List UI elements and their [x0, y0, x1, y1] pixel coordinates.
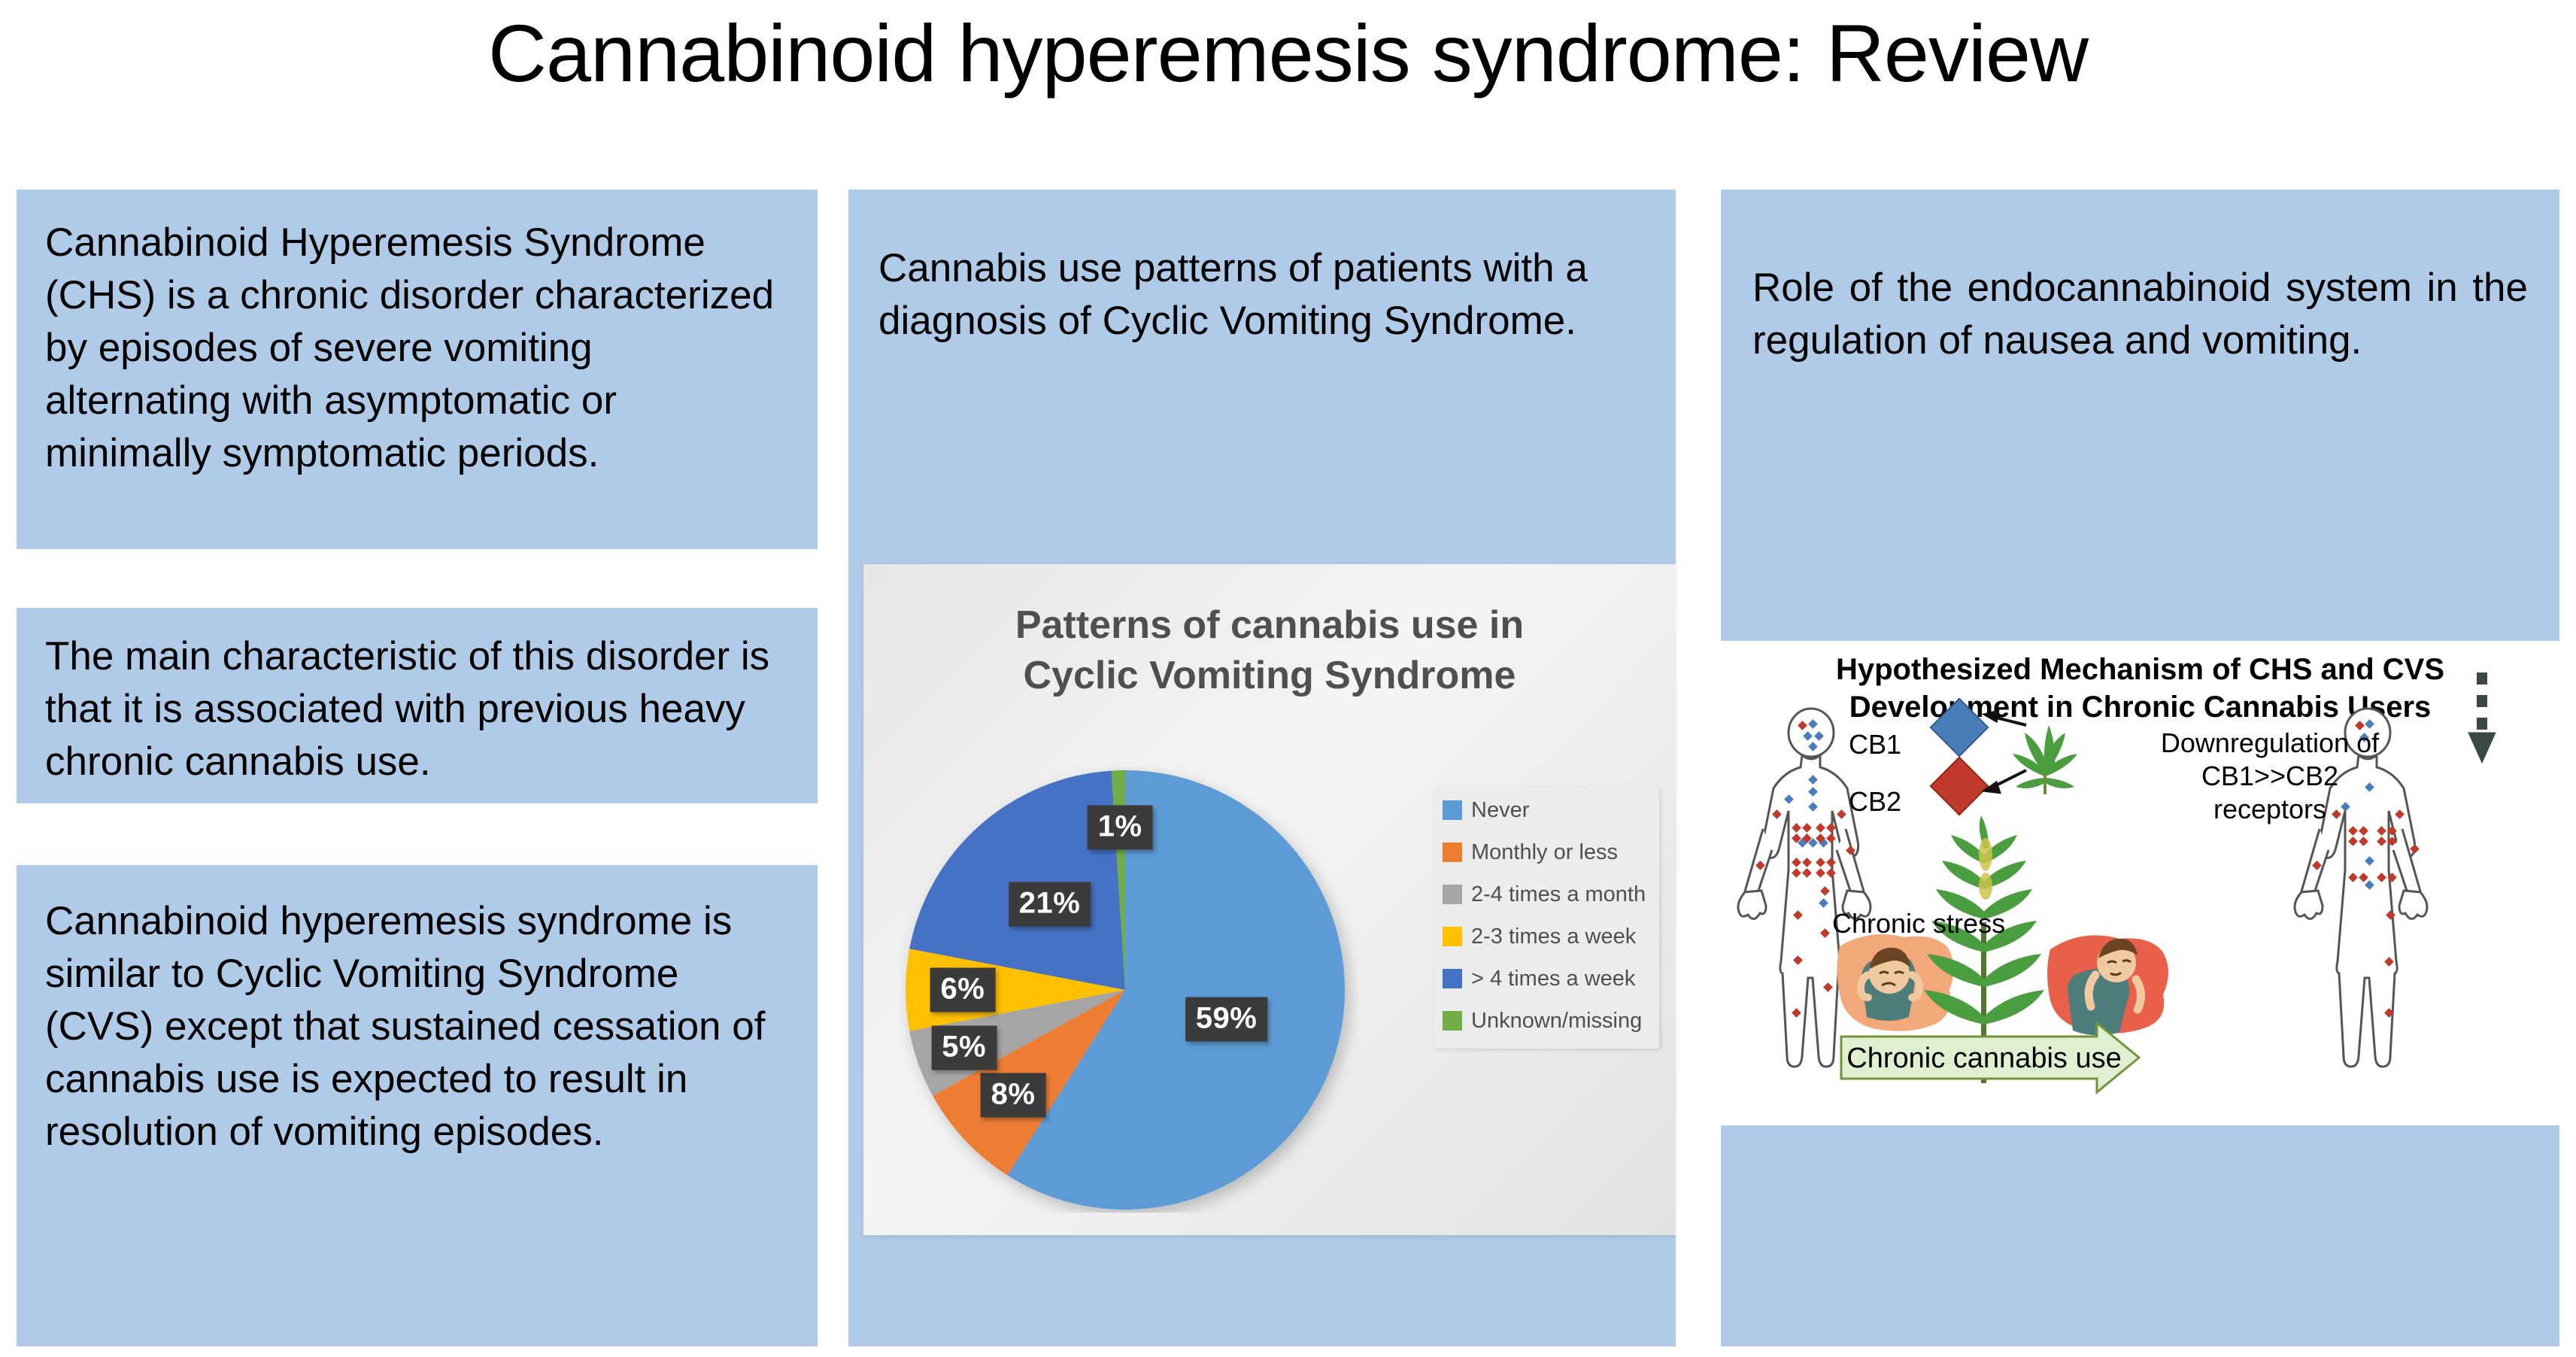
chart-title-line-1: Patterns of cannabis use in	[863, 600, 1676, 651]
vomiting-person-icon	[2047, 935, 2168, 1035]
pie-slice-label: 8%	[981, 1073, 1046, 1117]
legend-item-label: Monthly or less	[1471, 840, 1618, 865]
legend-item-label: Never	[1471, 798, 1529, 823]
legend-item[interactable]: > 4 times a week	[1443, 966, 1650, 991]
pie-slice-label: 59%	[1185, 997, 1268, 1042]
downregulation-arrow-icon	[2468, 672, 2496, 763]
panel-chs-definition: Cannabinoid Hyperemesis Syndrome (CHS) i…	[17, 190, 818, 549]
downregulation-label: Downregulation of CB1>>CB2 receptors	[2157, 727, 2383, 826]
legend-item[interactable]: Unknown/missing	[1443, 1008, 1650, 1034]
legend-swatch-icon	[1443, 1011, 1462, 1031]
cannabis-use-patterns-heading: Cannabis use patterns of patients with a…	[848, 190, 1676, 348]
panel-right-bottom-spacer	[1721, 1125, 2559, 1346]
receptor-binding-arrows	[1986, 712, 2026, 792]
panel-endocannabinoid-role: Role of the endocannabinoid system in th…	[1721, 190, 2559, 641]
chs-definition-text: Cannabinoid Hyperemesis Syndrome (CHS) i…	[17, 190, 818, 480]
cb1-diamond-icon	[1931, 699, 1988, 756]
chronic-stress-person-icon	[1837, 934, 1953, 1031]
chronic-stress-label: Chronic stress	[1832, 907, 2005, 940]
chs-cvs-comparison-text: Cannabinoid hyperemesis syndrome is simi…	[17, 865, 818, 1158]
pie-slice-label: 21%	[1009, 882, 1091, 927]
panel-chs-cvs-comparison: Cannabinoid hyperemesis syndrome is simi…	[17, 865, 818, 1346]
legend-swatch-icon	[1443, 969, 1462, 988]
legend-swatch-icon	[1443, 927, 1462, 946]
chart-title-line-2: Cyclic Vomiting Syndrome	[863, 651, 1676, 701]
cannabis-leaf-icon	[2013, 725, 2077, 794]
legend-item-label: Unknown/missing	[1471, 1009, 1642, 1034]
endocannabinoid-role-text: Role of the endocannabinoid system in th…	[1721, 190, 2559, 367]
page-title: Cannabinoid hyperemesis syndrome: Review	[0, 6, 2576, 100]
pie-slice-label: 1%	[1088, 806, 1153, 850]
chart-legend: NeverMonthly or less2-4 times a month2-3…	[1434, 787, 1659, 1049]
chs-characteristic-text: The main characteristic of this disorder…	[17, 608, 818, 788]
pie-chart: 59%8%5%6%21%1%	[900, 767, 1358, 1213]
cb1-label: CB1	[1849, 728, 1901, 761]
panel-chs-characteristic: The main characteristic of this disorder…	[17, 608, 818, 803]
legend-swatch-icon	[1443, 800, 1462, 820]
graphical-abstract: Cannabinoid hyperemesis syndrome: Review…	[0, 0, 2576, 1357]
legend-swatch-icon	[1443, 885, 1462, 904]
chart-title: Patterns of cannabis use in Cyclic Vomit…	[863, 600, 1676, 700]
legend-item[interactable]: Monthly or less	[1443, 839, 1650, 865]
cb2-diamond-icon	[1931, 757, 1988, 815]
legend-item-label: > 4 times a week	[1471, 967, 1635, 991]
pie-slice-label: 6%	[930, 968, 996, 1012]
mechanism-figure: Hypothesized Mechanism of CHS and CVS De…	[1721, 644, 2559, 1122]
chronic-cannabis-use-label: Chronic cannabis use	[1841, 1043, 2127, 1075]
legend-swatch-icon	[1443, 842, 1462, 862]
cb2-label: CB2	[1849, 785, 1901, 818]
legend-item[interactable]: Never	[1443, 797, 1650, 823]
pie-slice-label: 5%	[931, 1026, 997, 1070]
legend-item-label: 2-4 times a month	[1471, 882, 1646, 907]
legend-item[interactable]: 2-4 times a month	[1443, 882, 1650, 907]
legend-item[interactable]: 2-3 times a week	[1443, 924, 1650, 949]
legend-item-label: 2-3 times a week	[1471, 924, 1636, 949]
pie-chart-card: Patterns of cannabis use in Cyclic Vomit…	[863, 564, 1676, 1235]
